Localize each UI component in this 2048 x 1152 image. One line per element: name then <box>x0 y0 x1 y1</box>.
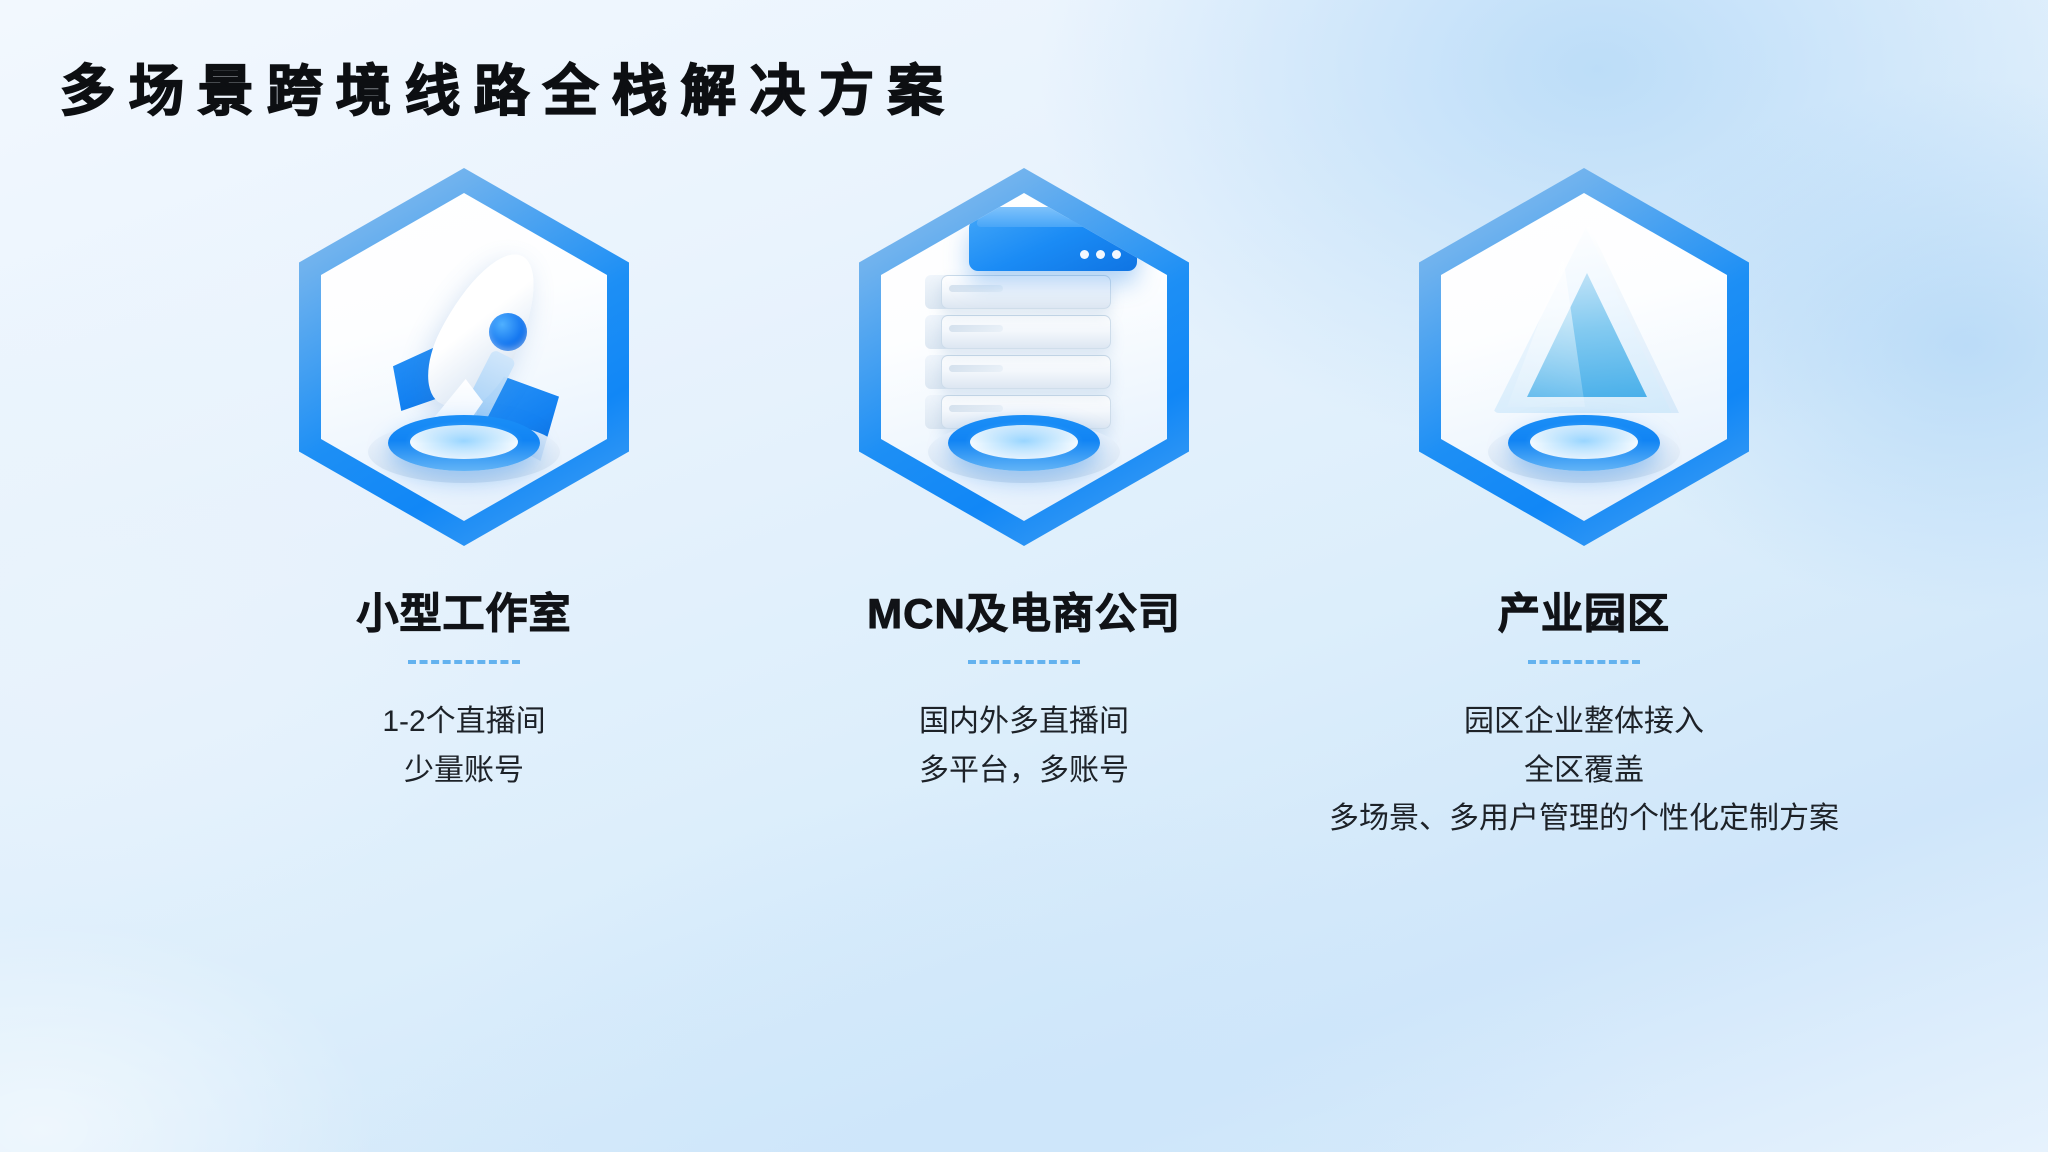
card-description: 1-2个直播间 少量账号 <box>382 698 545 795</box>
scenario-card-small-studio[interactable]: 小型工作室 1-2个直播间 少量账号 <box>184 168 744 844</box>
server-unit <box>941 355 1111 389</box>
card-description-line: 园区企业整体接入 <box>1329 698 1839 747</box>
indicator-dot <box>1112 250 1121 259</box>
pedestal-glow <box>404 421 524 461</box>
card-description-line: 多平台，多账号 <box>919 747 1129 796</box>
rocket-window <box>489 313 527 351</box>
pedestal-glow <box>1524 421 1644 461</box>
hexagon-badge-2 <box>859 168 1189 546</box>
card-description-line: 1-2个直播间 <box>382 698 545 747</box>
card-title: 产业园区 <box>1498 590 1670 638</box>
card-title: 小型工作室 <box>356 590 571 638</box>
card-divider <box>968 660 1080 664</box>
card-divider <box>1528 660 1640 664</box>
server-stack-shape <box>941 229 1117 439</box>
server-unit <box>941 275 1111 309</box>
server-indicator-dots <box>1080 250 1121 259</box>
hexagon-badge-1 <box>299 168 629 546</box>
card-description-line: 国内外多直播间 <box>919 698 1129 747</box>
hexagon-badge-3 <box>1419 168 1749 546</box>
scenario-card-list: 小型工作室 1-2个直播间 少量账号 <box>0 168 2048 844</box>
page-title: 多场景跨境线路全栈解决方案 <box>60 58 957 124</box>
card-description-line: 少量账号 <box>382 747 545 796</box>
pedestal-glow <box>964 421 1084 461</box>
server-unit <box>941 315 1111 349</box>
scenario-card-industrial-park[interactable]: 产业园区 园区企业整体接入 全区覆盖 多场景、多用户管理的个性化定制方案 <box>1304 168 1864 844</box>
card-divider <box>408 660 520 664</box>
card-description-line: 全区覆盖 <box>1329 747 1839 796</box>
pyramid-shape <box>1493 227 1679 427</box>
indicator-dot <box>1080 250 1089 259</box>
card-title: MCN及电商公司 <box>867 590 1181 638</box>
card-description-line: 多场景、多用户管理的个性化定制方案 <box>1329 795 1839 844</box>
indicator-dot <box>1096 250 1105 259</box>
card-description: 国内外多直播间 多平台，多账号 <box>919 698 1129 795</box>
scenario-card-mcn-ecommerce[interactable]: MCN及电商公司 国内外多直播间 多平台，多账号 <box>744 168 1304 844</box>
card-description: 园区企业整体接入 全区覆盖 多场景、多用户管理的个性化定制方案 <box>1329 698 1839 844</box>
